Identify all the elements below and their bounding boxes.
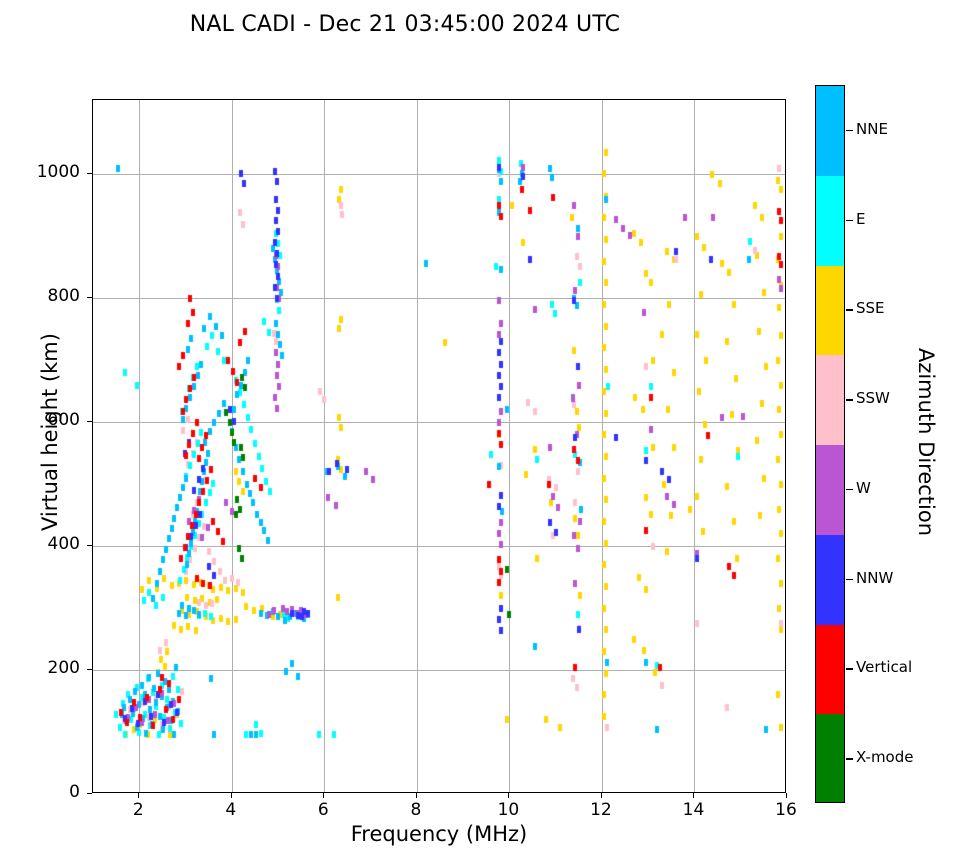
y-tick-mark xyxy=(87,173,92,174)
x-tick-mark xyxy=(693,793,694,798)
x-tick-label: 4 xyxy=(211,800,251,820)
x-tick-label: 10 xyxy=(488,800,528,820)
plot-area xyxy=(92,99,786,793)
y-tick-mark xyxy=(87,669,92,670)
colorbar-label-nnw: NNW xyxy=(856,569,893,587)
colorbar-segment-nne[interactable] xyxy=(816,86,844,176)
colorbar-label-ssw: SSW xyxy=(856,389,890,407)
y-tick-label: 1000 xyxy=(14,162,80,182)
x-tick-mark xyxy=(416,793,417,798)
y-tick-label: 200 xyxy=(14,658,80,678)
x-tick-mark xyxy=(231,793,232,798)
colorbar-tick-mark xyxy=(846,220,853,221)
x-tick-label: 16 xyxy=(766,800,806,820)
colorbar-tick-mark xyxy=(846,309,853,310)
y-tick-mark xyxy=(87,421,92,422)
x-tick-label: 2 xyxy=(118,800,158,820)
x-axis-label: Frequency (MHz) xyxy=(92,822,786,846)
colorbar-title: Azimuth Direction xyxy=(914,322,938,562)
ionogram-scatter-canvas xyxy=(93,100,787,794)
colorbar-tick-mark xyxy=(846,130,853,131)
colorbar-tick-mark xyxy=(846,489,853,490)
colorbar-segment-sse[interactable] xyxy=(816,266,844,356)
y-tick-mark xyxy=(87,545,92,546)
colorbar-label-vertical: Vertical xyxy=(856,658,912,676)
y-tick-label: 0 xyxy=(14,782,80,802)
colorbar[interactable] xyxy=(815,85,845,803)
colorbar-label-e: E xyxy=(856,210,865,228)
colorbar-segment-vertical[interactable] xyxy=(816,625,844,715)
colorbar-segment-x-mode[interactable] xyxy=(816,714,844,803)
colorbar-label-nne: NNE xyxy=(856,120,888,138)
x-tick-mark xyxy=(508,793,509,798)
x-tick-label: 14 xyxy=(673,800,713,820)
colorbar-label-w: W xyxy=(856,479,871,497)
x-tick-mark xyxy=(138,793,139,798)
y-tick-mark xyxy=(87,793,92,794)
colorbar-label-x-mode: X-mode xyxy=(856,748,913,766)
colorbar-label-sse: SSE xyxy=(856,299,885,317)
x-tick-label: 6 xyxy=(303,800,343,820)
y-axis-label: Virtual height (km) xyxy=(38,282,62,582)
colorbar-tick-mark xyxy=(846,399,853,400)
x-tick-mark xyxy=(601,793,602,798)
colorbar-tick-mark xyxy=(846,579,853,580)
y-tick-mark xyxy=(87,297,92,298)
colorbar-segment-nnw[interactable] xyxy=(816,535,844,625)
colorbar-tick-mark xyxy=(846,758,853,759)
colorbar-segment-e[interactable] xyxy=(816,176,844,266)
colorbar-segment-w[interactable] xyxy=(816,445,844,535)
x-tick-mark xyxy=(786,793,787,798)
colorbar-segment-ssw[interactable] xyxy=(816,355,844,445)
page-title: NAL CADI - Dec 21 03:45:00 2024 UTC xyxy=(0,12,810,37)
x-tick-label: 12 xyxy=(581,800,621,820)
colorbar-tick-mark xyxy=(846,668,853,669)
x-tick-label: 8 xyxy=(396,800,436,820)
x-tick-mark xyxy=(323,793,324,798)
